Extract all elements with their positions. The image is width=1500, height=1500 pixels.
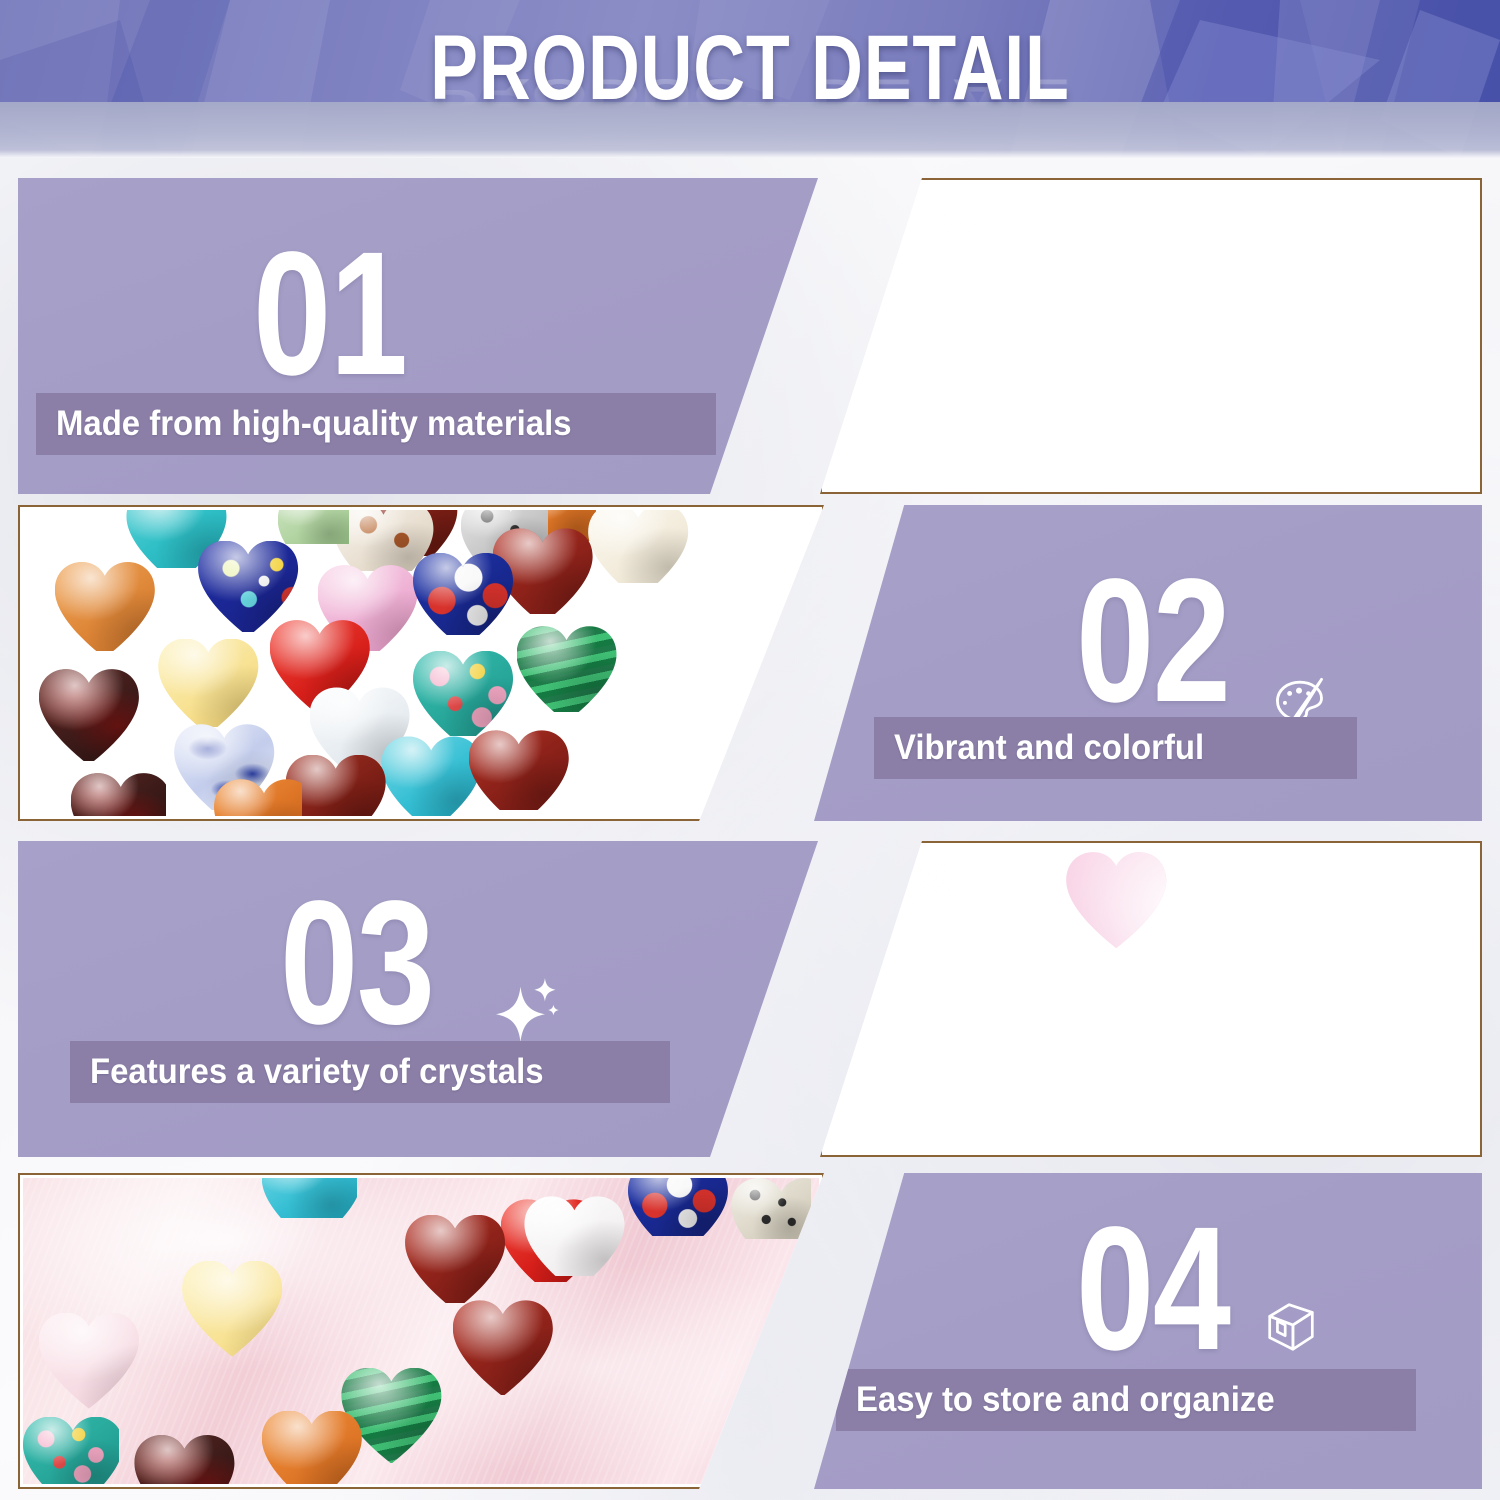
feature-number-03: 03: [280, 875, 433, 1051]
header-banner: PRODUCT DETAIL PRODUCT DETAIL: [0, 0, 1500, 158]
feature-number-04: 04: [1076, 1201, 1229, 1377]
feature-label-bar-04: Easy to store and organize: [836, 1369, 1416, 1431]
feature-panel-04: 04 Easy to store and organize: [814, 1173, 1482, 1489]
feature-row-3: 03 Features a variety of crystals: [18, 841, 1482, 1157]
page-title-reflection: PRODUCT DETAIL: [165, 74, 1335, 113]
photo-panel-04: Heart stones arranged on pink satin fabr…: [18, 1173, 824, 1489]
photo-panel-03: Blue sodalite heart behind a translucent…: [820, 841, 1482, 1157]
feature-panel-02: 02 Vibrant and colorful: [814, 505, 1482, 821]
feature-panel-01: 01 Made from high-quality materials: [18, 178, 818, 494]
feature-label-03: Features a variety of crystals: [90, 1052, 544, 1092]
feature-label-bar-02: Vibrant and colorful: [874, 717, 1357, 779]
feature-number-02: 02: [1076, 553, 1229, 729]
feature-label-04: Easy to store and organize: [856, 1380, 1275, 1420]
feature-row-2: Assortment of colorful heart-shaped ston…: [18, 505, 1482, 821]
sparkle-icon: [495, 976, 563, 1044]
open-box-icon: [1260, 1295, 1322, 1357]
sodalite-heart: [864, 861, 1242, 1143]
feature-row-1: 01 Made from high-quality materials: [18, 178, 1482, 494]
feature-number-01: 01: [253, 226, 406, 402]
feature-panel-03: 03 Features a variety of crystals: [18, 841, 818, 1157]
sodalite-heart-photo: [884, 207, 1419, 489]
feature-label-bar-03: Features a variety of crystals: [70, 1041, 670, 1103]
feature-label-01: Made from high-quality materials: [56, 404, 572, 444]
feature-label-bar-01: Made from high-quality materials: [36, 393, 716, 455]
product-detail-infographic: PRODUCT DETAIL PRODUCT DETAIL 01: [0, 0, 1500, 1500]
feature-rows: 01 Made from high-quality materials: [18, 178, 1482, 1483]
photo-panel-01: Large blue and white sodalite heart ston…: [820, 178, 1482, 494]
photo-panel-02: Assortment of colorful heart-shaped ston…: [18, 505, 824, 821]
feature-row-4: Heart stones arranged on pink satin fabr…: [18, 1173, 1482, 1489]
feature-label-02: Vibrant and colorful: [894, 728, 1204, 768]
rose-quartz-heart: [1066, 852, 1457, 1143]
